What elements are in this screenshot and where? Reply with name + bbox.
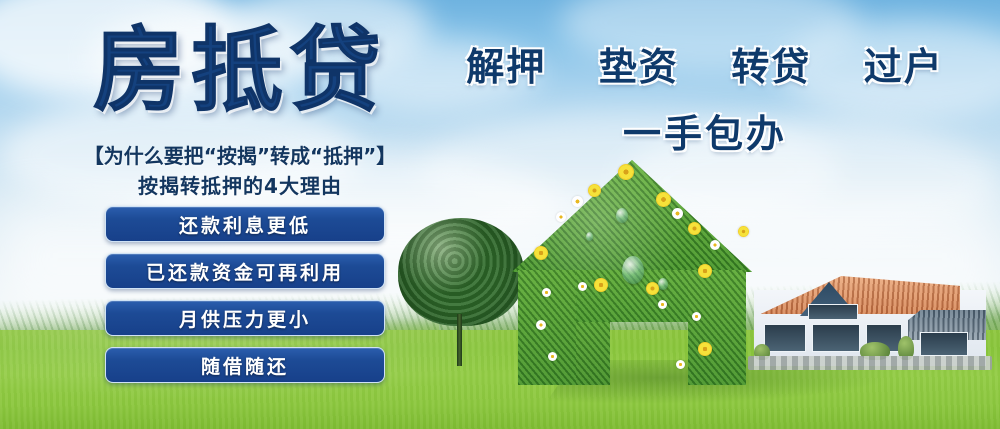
subtitle-line-2: 按揭转抵押的4大理由 xyxy=(40,170,440,199)
flower-icon xyxy=(556,212,566,222)
reason-button-4[interactable]: 随借随还 xyxy=(105,347,385,383)
reason-button-1[interactable]: 还款利息更低 xyxy=(105,206,385,242)
page-title: 房抵贷 xyxy=(60,24,420,116)
promo-banner: 房抵贷 【为什么要把“按揭”转成“抵押”】 按揭转抵押的4大理由 解押 垫资 转… xyxy=(0,0,1000,429)
flower-icon xyxy=(578,282,587,291)
headline-word-4: 过户 xyxy=(864,45,944,89)
headline-word-1: 解押 xyxy=(466,45,546,89)
headline-word-2: 垫资 xyxy=(599,45,679,89)
flower-icon xyxy=(692,312,701,321)
flower-icon xyxy=(698,342,712,356)
tree-icon xyxy=(398,218,524,366)
subtitle-line-1: 【为什么要把“按揭”转成“抵押”】 xyxy=(40,140,440,169)
water-droplet-icon xyxy=(616,208,628,223)
flower-icon xyxy=(618,164,634,180)
flower-icon xyxy=(588,184,601,197)
headline: 解押 垫资 转贷 过户 一手包办 xyxy=(455,36,955,158)
flower-icon xyxy=(698,264,712,278)
flower-icon xyxy=(738,226,749,237)
reason-button-2[interactable]: 已还款资金可再利用 xyxy=(105,253,385,289)
flower-icon xyxy=(542,288,551,297)
grass-house-inner-column xyxy=(576,322,610,385)
flower-icon xyxy=(548,352,557,361)
grass-house-wall-right xyxy=(688,270,746,385)
grass-house-icon xyxy=(512,160,752,385)
villa-stone-wall xyxy=(748,356,992,370)
villa-window xyxy=(764,324,806,352)
flower-icon xyxy=(688,222,701,235)
villa-balcony xyxy=(808,304,858,320)
villa-window xyxy=(812,324,860,352)
water-droplet-icon xyxy=(586,232,593,241)
headline-line-1: 解押 垫资 转贷 过户 xyxy=(455,36,955,91)
flower-icon xyxy=(676,360,685,369)
water-droplet-icon xyxy=(622,256,644,284)
villa-window xyxy=(920,332,968,356)
flower-icon xyxy=(656,192,671,207)
flower-icon xyxy=(534,246,548,260)
flower-icon xyxy=(594,278,608,292)
tree-trunk xyxy=(457,314,462,366)
flower-icon xyxy=(672,208,683,219)
headline-word-3: 转贷 xyxy=(731,45,811,89)
flower-icon xyxy=(710,240,720,250)
flower-icon xyxy=(658,300,667,309)
villa-house-icon xyxy=(748,252,1000,374)
reason-button-3[interactable]: 月供压力更小 xyxy=(105,300,385,336)
flower-icon xyxy=(572,196,583,207)
tree-crown xyxy=(398,218,524,326)
headline-line-2: 一手包办 xyxy=(455,103,955,158)
water-droplet-icon xyxy=(658,278,668,290)
flower-icon xyxy=(646,282,659,295)
flower-icon xyxy=(536,320,546,330)
